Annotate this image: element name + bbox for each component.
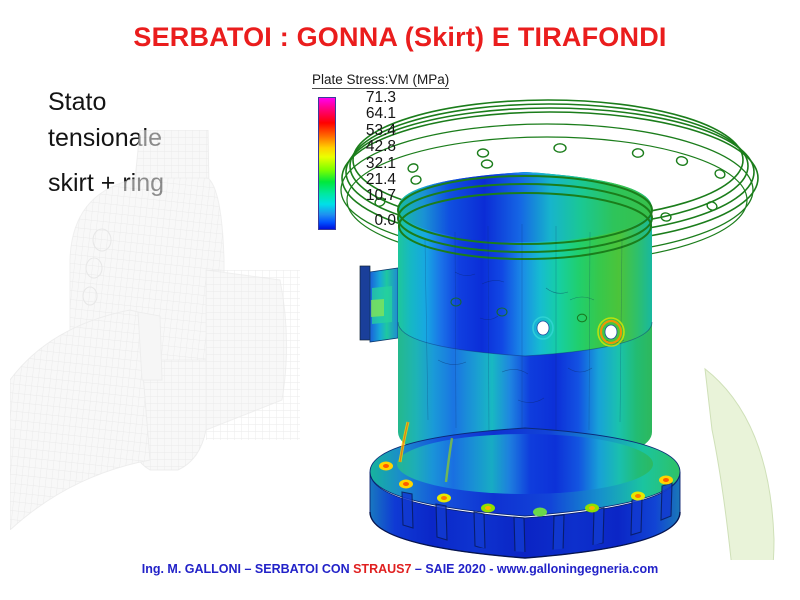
legend-value: 71.3 — [340, 90, 396, 106]
legend-colorbar — [318, 97, 336, 230]
ghost-notch — [138, 312, 162, 380]
legend-value: 42.8 — [340, 139, 396, 155]
legend-value: 53.4 — [340, 123, 396, 139]
footer-highlight: STRAUS7 — [353, 562, 411, 576]
legend-value-list: 71.3 64.1 53.4 42.8 32.1 21.4 10.7 0.0 — [340, 90, 410, 229]
base-ring-with-anchor-bolts — [370, 422, 680, 558]
footer-part-1: Ing. M. GALLONI – SERBATOI CON — [142, 562, 353, 576]
caption-line-1: Stato — [48, 84, 278, 120]
legend-value: 0.0 — [340, 213, 396, 229]
legend-value: 32.1 — [340, 156, 396, 172]
right-side-plate — [705, 369, 774, 560]
side-nozzle — [360, 266, 398, 342]
legend-value: 21.4 — [340, 172, 396, 188]
page-title: SERBATOI : GONNA (Skirt) E TIRAFONDI — [0, 22, 800, 53]
slide-canvas: SERBATOI : GONNA (Skirt) E TIRAFONDI Sta… — [0, 0, 800, 600]
footer-credit: Ing. M. GALLONI – SERBATOI CON STRAUS7 –… — [0, 562, 800, 576]
legend-title: Plate Stress:VM (MPa) — [312, 72, 449, 89]
legend-value: 64.1 — [340, 106, 396, 122]
footer-part-2: – SAIE 2020 - www.galloningegneria.com — [411, 562, 658, 576]
legend-value: 10.7 — [340, 188, 396, 204]
stress-legend: Plate Stress:VM (MPa) 71.3 64.1 53.4 42.… — [310, 72, 485, 237]
